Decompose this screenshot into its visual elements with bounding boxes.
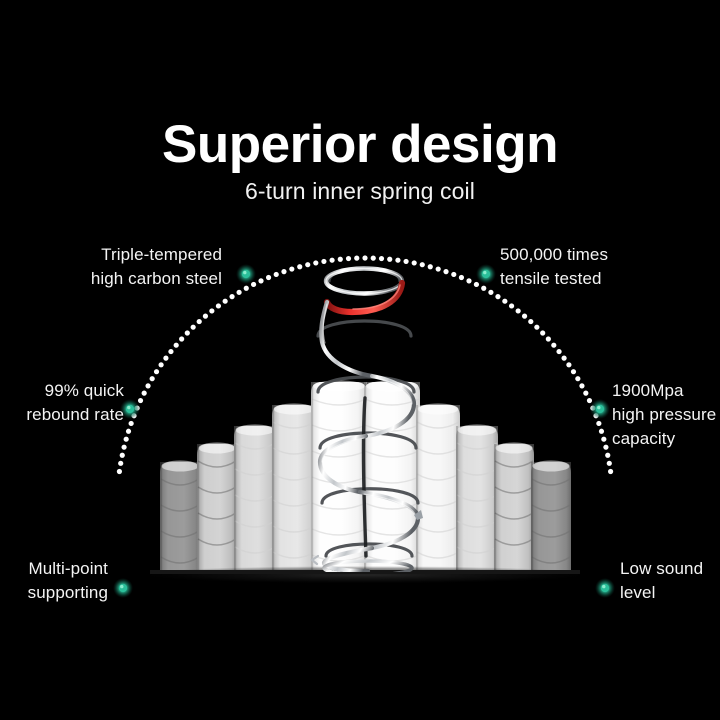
arc-dot [495, 294, 500, 299]
arc-dot [118, 461, 123, 466]
arc-dot [346, 256, 351, 261]
arc-dot [603, 445, 608, 450]
pocket-spring-cap [198, 443, 235, 454]
arc-dot [522, 314, 527, 319]
arc-dot [191, 325, 196, 330]
arc-dot [459, 275, 464, 280]
pocket-spring-column [272, 404, 316, 573]
pocket-spring-column [234, 425, 276, 573]
pocket-spring-cap [457, 425, 496, 436]
arc-dot [481, 286, 486, 291]
arc-dot [120, 453, 125, 458]
arc-dot [321, 259, 326, 264]
callout-node-specular-triple [243, 271, 246, 274]
arc-dot [197, 319, 202, 324]
arc-dot [395, 258, 400, 263]
arc-dot [168, 349, 173, 354]
arc-dot [556, 349, 561, 354]
base-shadow [130, 566, 600, 584]
callout-multi-point-supporting: Multi-point supporting [0, 557, 108, 605]
pocket-spring-edge [272, 405, 274, 572]
arc-dot [274, 272, 279, 277]
pocket-spring-cap [418, 404, 459, 415]
callout-node-lowsound[interactable] [601, 584, 609, 592]
arc-dot [502, 299, 507, 304]
pocket-spring-edge [160, 462, 162, 572]
arc-dot [163, 356, 168, 361]
arc-dot [216, 303, 221, 308]
arc-dot [412, 260, 417, 265]
arc-dot [251, 282, 256, 287]
arc-dot [138, 398, 143, 403]
arc-dot [117, 469, 122, 474]
arc-dot [451, 272, 456, 277]
arc-dot [579, 383, 584, 388]
arc-dot [571, 369, 576, 374]
pocket-spring-tint [416, 405, 460, 572]
arc-dot [596, 421, 601, 426]
pocket-spring-column [456, 425, 498, 573]
arc-dot [159, 362, 164, 367]
arc-dot [266, 275, 271, 280]
callout-quick-rebound-rate: 99% quick rebound rate [0, 379, 124, 427]
poster-canvas: Superior design 6-turn inner spring coil [0, 0, 720, 720]
arc-dot [362, 255, 367, 260]
pocket-spring-tint [272, 405, 316, 572]
callout-node-pressure[interactable] [596, 405, 604, 413]
pocket-spring-cap [532, 461, 569, 472]
pocket-spring-column [197, 443, 237, 573]
arc-dot [244, 286, 249, 291]
arc-dot [403, 259, 408, 264]
pocket-spring-column [494, 443, 534, 573]
arc-dot [313, 260, 318, 265]
arc-dot [575, 376, 580, 381]
arc-dot [297, 264, 302, 269]
pocket-spring-column [531, 461, 571, 573]
arc-dot [561, 356, 566, 361]
pocket-spring-cap [274, 404, 315, 415]
arc-dot [607, 461, 612, 466]
arc-dot [599, 429, 604, 434]
pocket-spring-column [416, 404, 460, 573]
callout-node-specular-lowsound [602, 585, 605, 588]
callout-tensile-tested: 500,000 times tensile tested [500, 243, 700, 291]
arc-dot [223, 299, 228, 304]
arc-dot [305, 262, 310, 267]
callout-node-triple[interactable] [242, 270, 250, 278]
arc-dot [229, 294, 234, 299]
pocket-spring-edge [234, 426, 236, 572]
arc-dot [174, 343, 179, 348]
arc-dot [258, 278, 263, 283]
pocket-spring-cap [235, 425, 274, 436]
arc-dot [528, 319, 533, 324]
arc-dot [540, 330, 545, 335]
arc-dot [281, 269, 286, 274]
pocket-spring-edge [456, 426, 458, 572]
arc-dot [185, 330, 190, 335]
arc-dot [605, 453, 610, 458]
pocket-spring-column [160, 461, 200, 573]
arc-dot [583, 391, 588, 396]
arc-dot [420, 262, 425, 267]
arc-dot [474, 282, 479, 287]
arc-dot [546, 336, 551, 341]
callout-node-rebound[interactable] [126, 405, 134, 413]
arc-dot [488, 290, 493, 295]
pocket-spring-edge [311, 382, 313, 572]
arc-dot [354, 256, 359, 261]
arc-dot [209, 308, 214, 313]
arc-dot [443, 269, 448, 274]
arc-dot [126, 429, 131, 434]
arc-dot [236, 290, 241, 295]
callout-node-specular-multi [120, 585, 123, 588]
arc-dot [150, 376, 155, 381]
arc-dot [516, 308, 521, 313]
arc-dot [566, 362, 571, 367]
arc-dot [289, 266, 294, 271]
arc-dot [203, 314, 208, 319]
arc-dot [121, 445, 126, 450]
pocket-spring-cap [495, 443, 532, 454]
arc-dot [428, 264, 433, 269]
pocket-spring-tint [160, 462, 200, 572]
pocket-spring-edge [197, 444, 199, 572]
arc-dot [601, 437, 606, 442]
arc-dot [379, 256, 384, 261]
arc-dot [608, 469, 613, 474]
arc-dot [329, 258, 334, 263]
callout-node-specular-rebound [127, 406, 130, 409]
pocket-spring-cap [161, 461, 198, 472]
callout-high-pressure-capacity: 1900Mpa high pressure capacity [612, 379, 720, 451]
arc-dot [145, 383, 150, 388]
callout-node-specular-tensile [483, 271, 486, 274]
pocket-spring-edge [494, 444, 496, 572]
arc-dot [179, 336, 184, 341]
arc-dot [551, 343, 556, 348]
pocket-spring-edge [416, 405, 418, 572]
callout-triple-tempered-high-carbon-steel: Triple-tempered high carbon steel [20, 243, 222, 291]
arc-dot [124, 437, 129, 442]
arc-dot [154, 369, 159, 374]
arc-dot [142, 391, 147, 396]
callout-node-multi[interactable] [119, 584, 127, 592]
arc-dot [129, 421, 134, 426]
arc-dot [534, 325, 539, 330]
product-illustration [0, 0, 720, 720]
callout-node-specular-pressure [597, 406, 600, 409]
arc-dot [466, 278, 471, 283]
callout-low-sound-level: Low sound level [620, 557, 720, 605]
callout-node-tensile[interactable] [482, 270, 490, 278]
pocket-spring-edge [531, 462, 533, 572]
pocket-spring-tint [531, 462, 571, 572]
arc-dot [509, 303, 514, 308]
arc-dot [587, 398, 592, 403]
arc-dot [371, 256, 376, 261]
arc-dot [338, 257, 343, 262]
arc-dot [387, 257, 392, 262]
arc-dot [436, 266, 441, 271]
